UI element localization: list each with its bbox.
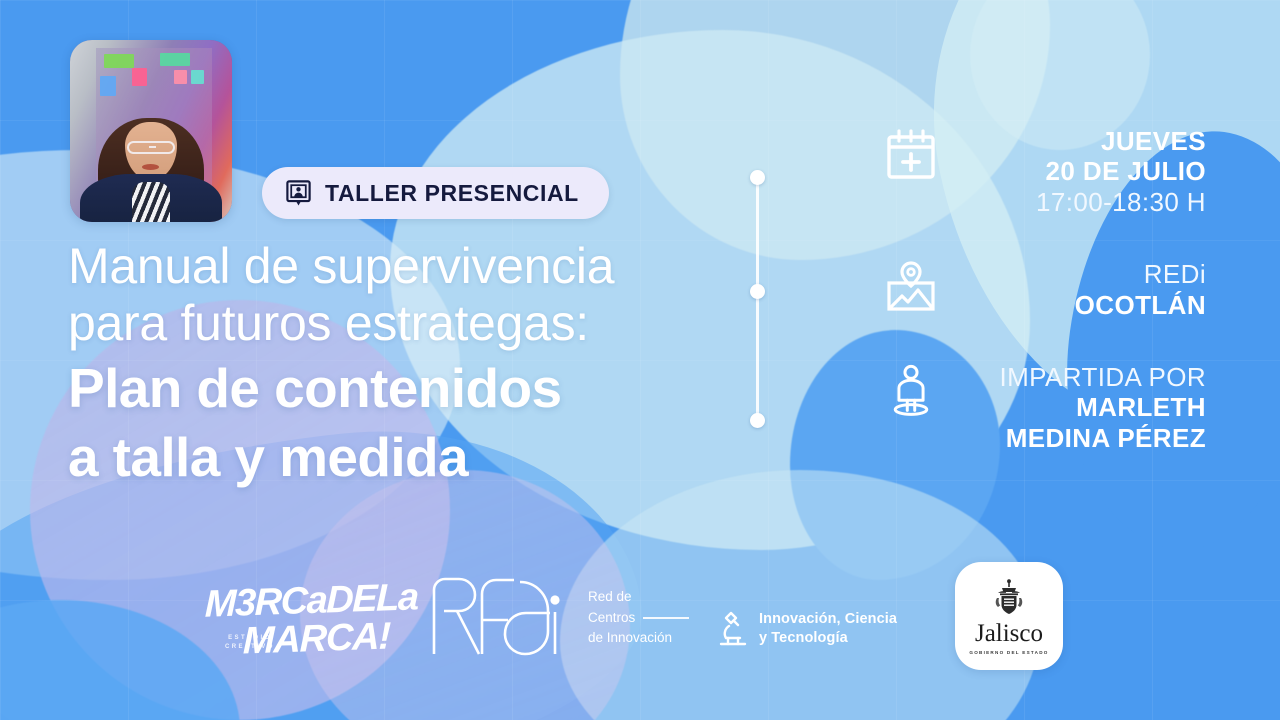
headline-block: Manual de supervivencia para futuros est… bbox=[68, 238, 788, 488]
logo-mercadelamarca: M3RCaDELa MARCA! ESTUDIO CREATIVO bbox=[205, 574, 390, 666]
badge-label: TALLER PRESENCIAL bbox=[325, 180, 579, 207]
date-time: 17:00-18:30 H bbox=[958, 187, 1206, 217]
timeline-dot bbox=[750, 413, 765, 428]
ict-line-2: y Tecnología bbox=[759, 629, 897, 648]
info-row-date: JUEVES 20 DE JULIO 17:00-18:30 H bbox=[886, 126, 1206, 217]
jalisco-wordmark: Jalisco bbox=[975, 621, 1043, 646]
microscope-icon bbox=[718, 610, 748, 648]
calendar-plus-icon bbox=[886, 128, 936, 180]
sticky-note bbox=[132, 68, 147, 86]
redi-line-2: Centros bbox=[588, 610, 635, 625]
headshot-shirt bbox=[132, 182, 170, 222]
redi-descriptor: Red de Centros de Innovación bbox=[588, 587, 689, 650]
logo-bar: M3RCaDELa MARCA! ESTUDIO CREATIVO bbox=[0, 556, 1280, 676]
sticky-note bbox=[100, 76, 116, 96]
jalisco-subtitle: GOBIERNO DEL ESTADO bbox=[969, 650, 1048, 655]
jalisco-coat-of-arms-icon bbox=[989, 578, 1029, 618]
ict-label: Innovación, Ciencia y Tecnología bbox=[759, 610, 897, 648]
headline-line-4: a talla y medida bbox=[68, 427, 788, 489]
logo-innovacion-ciencia-tecnologia: Innovación, Ciencia y Tecnología bbox=[718, 610, 897, 648]
timeline-connector bbox=[750, 170, 764, 426]
timeline-dot bbox=[750, 170, 765, 185]
presenter-person-icon bbox=[886, 364, 936, 416]
mdm-tagline-line-1: ESTUDIO bbox=[225, 634, 275, 643]
logo-redi: Red de Centros de Innovación bbox=[424, 568, 689, 668]
taller-presencial-badge[interactable]: TALLER PRESENCIAL bbox=[262, 167, 609, 219]
headline-line-1: Manual de supervivencia bbox=[68, 238, 788, 295]
info-row-speaker: IMPARTIDA POR MARLETH MEDINA PÉREZ bbox=[886, 362, 1206, 453]
mdm-tagline-line-2: CREATIVO bbox=[225, 643, 275, 652]
logo-jalisco: Jalisco GOBIERNO DEL ESTADO bbox=[955, 562, 1063, 670]
sticky-note bbox=[160, 53, 190, 66]
sticky-note bbox=[191, 70, 204, 84]
redi-rule bbox=[643, 617, 689, 618]
sticky-note bbox=[174, 70, 187, 84]
headshot-mouth bbox=[142, 164, 159, 170]
speaker-label: IMPARTIDA POR bbox=[958, 362, 1206, 392]
headshot-figure bbox=[70, 117, 232, 222]
redi-line-3: de Innovación bbox=[588, 628, 689, 649]
speaker-first: MARLETH bbox=[958, 392, 1206, 422]
headshot-glasses bbox=[127, 141, 175, 154]
date-day: JUEVES bbox=[958, 126, 1206, 156]
headline-line-2: para futuros estrategas: bbox=[68, 295, 788, 352]
speaker-headshot bbox=[70, 40, 232, 222]
event-info-panel: JUEVES 20 DE JULIO 17:00-18:30 H REDi OC… bbox=[886, 126, 1206, 495]
date-full: 20 DE JULIO bbox=[958, 156, 1206, 186]
headline-line-3: Plan de contenidos bbox=[68, 358, 788, 420]
info-text-date: JUEVES 20 DE JULIO 17:00-18:30 H bbox=[958, 126, 1206, 217]
mdm-tagline: ESTUDIO CREATIVO bbox=[225, 634, 275, 652]
timeline-dot bbox=[750, 284, 765, 299]
info-text-location: REDi OCOTLÁN bbox=[958, 259, 1206, 320]
info-text-speaker: IMPARTIDA POR MARLETH MEDINA PÉREZ bbox=[958, 362, 1206, 453]
map-pin-icon bbox=[886, 261, 936, 313]
redi-mark-icon bbox=[424, 568, 574, 668]
redi-line-1: Red de bbox=[588, 587, 689, 608]
sticky-note bbox=[104, 54, 134, 68]
speaker-last: MEDINA PÉREZ bbox=[958, 423, 1206, 453]
presentation-person-icon bbox=[286, 180, 311, 207]
venue-name: REDi bbox=[958, 259, 1206, 289]
timeline-line bbox=[756, 178, 759, 420]
ict-line-1: Innovación, Ciencia bbox=[759, 610, 897, 629]
info-row-location: REDi OCOTLÁN bbox=[886, 259, 1206, 320]
redi-line-2-wrap: Centros bbox=[588, 608, 689, 629]
venue-city: OCOTLÁN bbox=[958, 290, 1206, 320]
poster-canvas: TALLER PRESENCIAL Manual de supervivenci… bbox=[0, 0, 1280, 720]
